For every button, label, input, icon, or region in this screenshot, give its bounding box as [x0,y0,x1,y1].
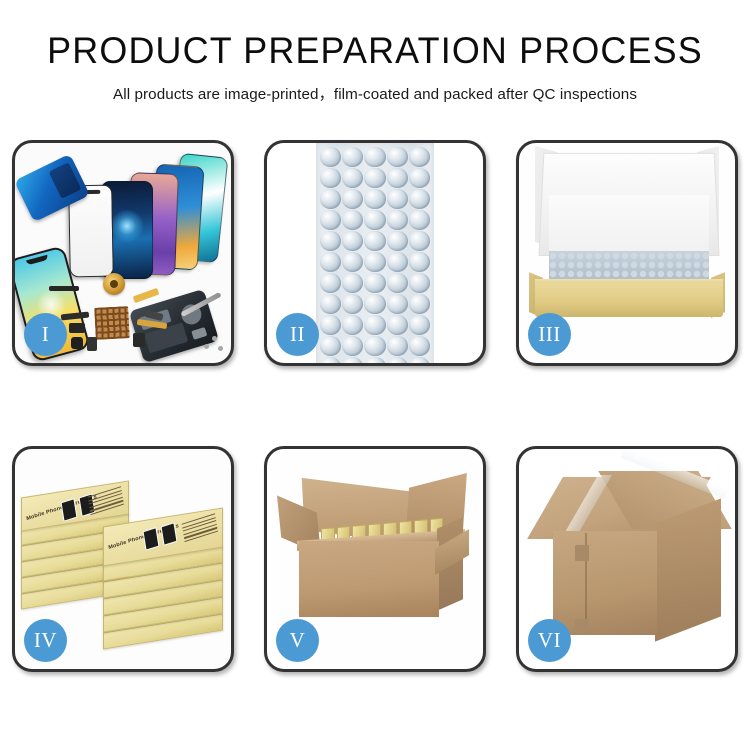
label-screen-image [143,527,160,551]
step-badge-5: V [276,619,319,662]
page-title: PRODUCT PREPARATION PROCESS [11,32,739,71]
earpiece-part [49,286,79,291]
connector-part [191,327,207,340]
carton-front-face [299,541,439,617]
carton-tab [575,619,589,634]
small-part [133,333,145,347]
carton-front-face [553,531,657,635]
step-panel-2[interactable]: II [264,140,486,366]
step-badge-3: III [528,313,571,356]
step-badge-4: IV [24,619,67,662]
foam-insert [549,195,709,257]
step-badge-2: II [276,313,319,356]
box-front-face [535,283,723,317]
page-subtitle: All products are image-printed，film-coat… [0,82,750,104]
flex-cable-part [133,288,160,303]
screw-part [218,346,223,351]
small-part [71,337,83,349]
label-spec-lines [182,513,219,544]
carton-tab [575,545,589,561]
small-part [87,337,97,351]
step-panel-3[interactable]: III [516,140,738,366]
label-spec-lines [88,486,125,517]
bubble-wrap-sheet [316,143,434,363]
gold-coil-part [103,273,125,295]
step-panel-5[interactable]: V [264,446,486,672]
carton-side-face [655,498,721,641]
page-header: PRODUCT PREPARATION PROCESS All products… [0,0,750,104]
label-screen-image [61,498,78,522]
step-panel-6[interactable]: VI [516,446,738,672]
bubble-grid [320,147,430,363]
step-badge-6: VI [528,619,571,662]
copper-mesh-part [94,306,130,340]
step-panel-1[interactable]: I [12,140,234,366]
process-steps-grid: I II [12,140,738,672]
screw-part [212,336,217,341]
small-part [69,323,85,333]
step-panel-4[interactable]: Mobile Phone Spare Parts Mobile Phone Sp… [12,446,234,672]
screw-part [204,344,209,349]
label-screen-image [161,522,178,546]
step-badge-1: I [24,313,67,356]
